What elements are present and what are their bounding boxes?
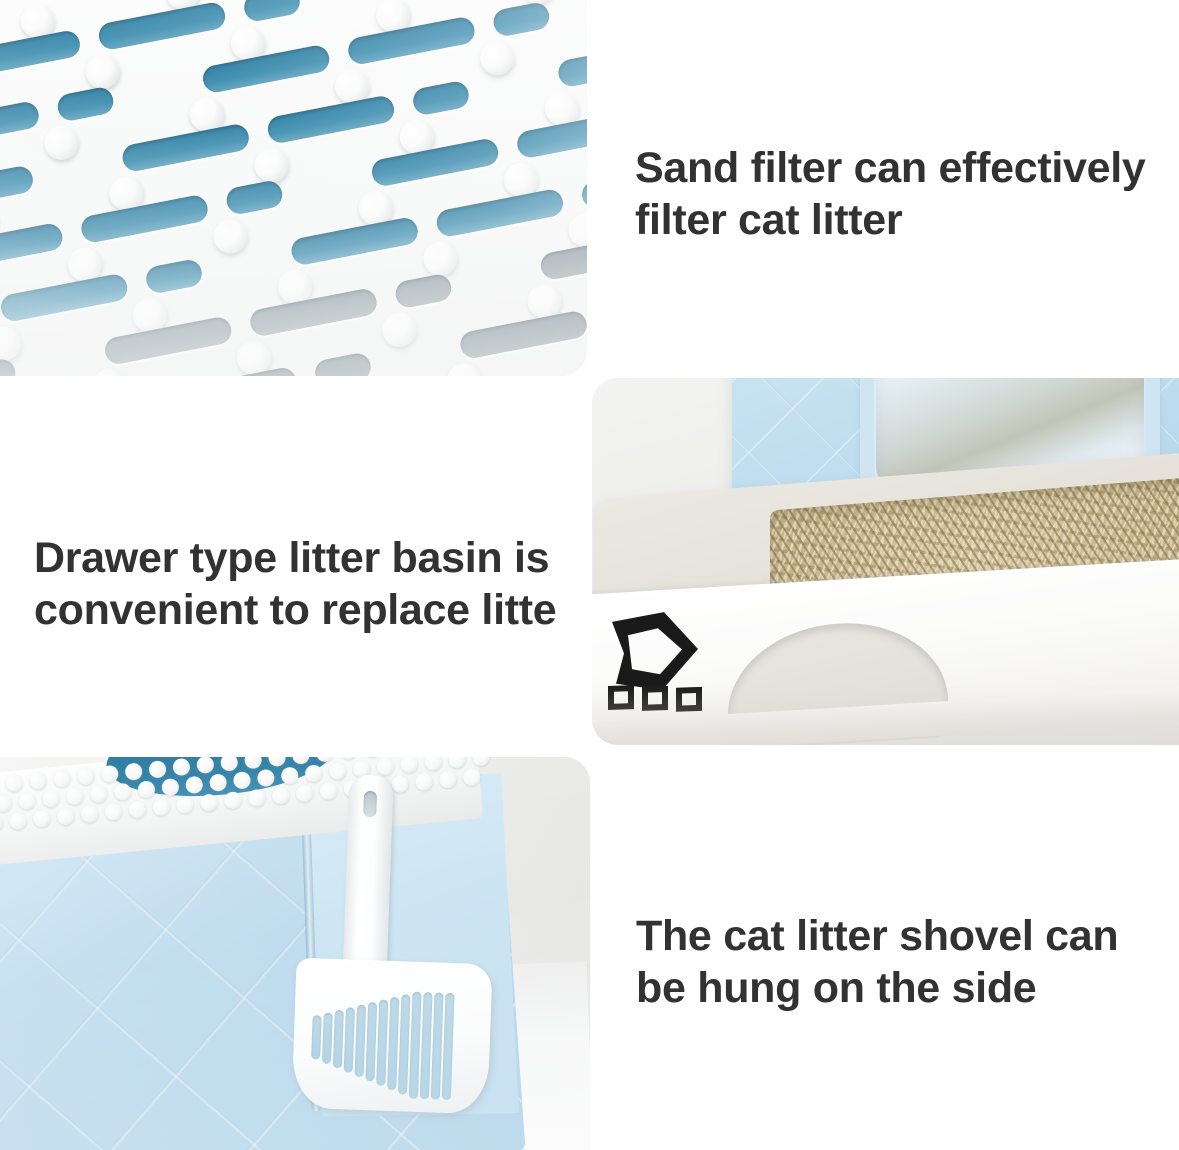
grate-slot bbox=[224, 179, 284, 216]
lid-bump bbox=[220, 757, 239, 772]
lid-bump bbox=[176, 796, 195, 815]
grate-slot bbox=[55, 86, 115, 123]
grate-slot bbox=[556, 38, 587, 89]
litter-scoop bbox=[322, 775, 522, 1115]
scoop-slot bbox=[344, 1007, 355, 1072]
grate-plate bbox=[0, 0, 587, 376]
photo-sand-filter-grate bbox=[0, 0, 587, 376]
grate-slot bbox=[103, 315, 234, 366]
grate-slot bbox=[265, 94, 396, 145]
scoop-slot bbox=[355, 1005, 367, 1077]
scoop-hanging-hole bbox=[363, 791, 377, 817]
lid-bump bbox=[200, 793, 219, 812]
lid-bump bbox=[56, 807, 75, 826]
scoop-slot bbox=[442, 993, 455, 1100]
caption-scoop-hanging: The cat litter shovel can be hung on the… bbox=[636, 910, 1156, 1015]
scoop-slot bbox=[376, 1000, 388, 1086]
lid-bump bbox=[42, 789, 61, 808]
grate-slot bbox=[434, 188, 565, 239]
grate-slot bbox=[248, 287, 379, 338]
grate-bump bbox=[252, 146, 292, 186]
grate-slot bbox=[144, 258, 204, 295]
lid-bump bbox=[271, 786, 290, 805]
grate-bump bbox=[0, 324, 25, 364]
lid-bump bbox=[233, 771, 252, 790]
grate-slot bbox=[370, 137, 501, 188]
lid-bump bbox=[281, 766, 300, 785]
lid-bump bbox=[0, 814, 3, 833]
grate-slot bbox=[97, 1, 228, 52]
lid-bump bbox=[104, 803, 123, 822]
grate-slot bbox=[0, 29, 82, 80]
grate-slot bbox=[0, 222, 65, 273]
grate-slot bbox=[242, 0, 302, 24]
drawer-floor-shadow bbox=[592, 685, 1179, 745]
scoop-blade-slots bbox=[310, 980, 464, 1095]
grate-slot bbox=[491, 1, 551, 38]
lid-bump bbox=[185, 776, 204, 795]
grate-slot bbox=[0, 165, 35, 202]
lid-bump bbox=[172, 758, 191, 777]
caption-sand-filter: Sand filter can effectively filter cat l… bbox=[635, 142, 1155, 247]
scoop-slot bbox=[387, 997, 399, 1090]
lid-bump bbox=[196, 757, 215, 774]
lid-bump bbox=[5, 774, 24, 793]
grate-slot bbox=[32, 0, 163, 1]
lid-bump bbox=[316, 757, 335, 763]
lid-bump bbox=[304, 764, 323, 783]
photo-drawer-litter-basin bbox=[592, 378, 1179, 745]
lid-bump bbox=[80, 805, 99, 824]
grate-slot bbox=[393, 273, 453, 310]
lid-bump bbox=[292, 757, 311, 765]
lid-bump bbox=[224, 791, 243, 810]
lid-bump bbox=[0, 794, 12, 813]
lid-bump bbox=[137, 780, 156, 799]
lid-bump bbox=[257, 769, 276, 788]
photo-scoop-hanging bbox=[0, 757, 590, 1150]
grate-slot bbox=[562, 366, 587, 376]
grate-slot bbox=[580, 173, 587, 210]
lid-bump bbox=[148, 760, 167, 779]
lid-bump bbox=[209, 773, 228, 792]
lid-bump bbox=[339, 757, 358, 760]
lid-bump bbox=[113, 783, 132, 802]
grate-bump bbox=[83, 52, 123, 92]
grate-bump bbox=[421, 239, 461, 279]
lid-bump bbox=[295, 784, 314, 803]
infographic-canvas: Sand filter can effectively filter cat l… bbox=[0, 0, 1179, 1150]
grate-slot bbox=[411, 80, 471, 117]
grate-bump bbox=[89, 367, 129, 376]
lid-bump bbox=[32, 809, 51, 828]
grate-bump bbox=[566, 211, 587, 251]
lid-bump bbox=[161, 778, 180, 797]
grate-slot bbox=[289, 216, 420, 267]
grate-slot bbox=[120, 123, 251, 174]
scoop-blade bbox=[291, 958, 492, 1115]
grate-slot bbox=[313, 352, 373, 376]
scoop-slot bbox=[322, 1013, 333, 1064]
lid-bump bbox=[18, 792, 37, 811]
lid-bump bbox=[424, 757, 443, 771]
grate-slot bbox=[0, 273, 129, 324]
lid-bump bbox=[9, 812, 28, 831]
lid-bump bbox=[247, 789, 266, 808]
scoop-slot bbox=[333, 1010, 344, 1068]
lid-bump bbox=[65, 787, 84, 806]
lid-bump bbox=[77, 767, 96, 786]
grate-slot bbox=[346, 16, 477, 67]
scoop-slot bbox=[311, 1015, 322, 1059]
grate-slot bbox=[201, 44, 332, 95]
scoop-handle bbox=[342, 774, 393, 983]
grate-bump bbox=[41, 123, 81, 163]
lid-bump bbox=[152, 798, 171, 817]
lid-bump bbox=[124, 762, 143, 781]
lid-bump bbox=[89, 785, 108, 804]
lid-bump bbox=[128, 800, 147, 819]
caption-drawer-basin: Drawer type litter basin is convenient t… bbox=[34, 532, 574, 637]
grate-slot bbox=[168, 366, 299, 376]
grate-slot bbox=[0, 357, 18, 376]
grate-bump bbox=[477, 38, 517, 78]
lid-bump bbox=[376, 757, 395, 776]
lid-bump bbox=[101, 765, 120, 784]
lid-bump bbox=[448, 757, 467, 769]
grate-bump bbox=[379, 310, 419, 350]
lid-bump bbox=[244, 757, 263, 769]
grate-slot bbox=[79, 194, 210, 245]
grate-slot bbox=[458, 310, 587, 361]
grate-bump bbox=[210, 217, 250, 257]
lid-bump bbox=[363, 757, 382, 758]
lid-bump bbox=[53, 769, 72, 788]
grate-bump bbox=[444, 361, 484, 376]
lid-bump bbox=[268, 757, 287, 767]
grate-slot bbox=[0, 100, 41, 151]
lid-bump bbox=[29, 772, 48, 791]
scoop-slot bbox=[365, 1002, 377, 1081]
lid-bump bbox=[400, 757, 419, 773]
